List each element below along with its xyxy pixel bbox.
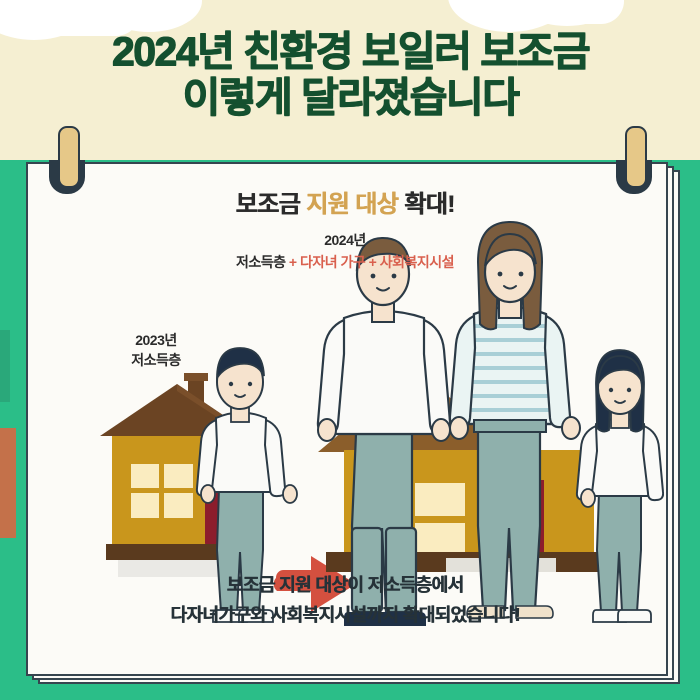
accent-stripe-green: [0, 330, 10, 402]
infographic-card: 2024년 친환경 보일러 보조금 이렇게 달라졌습니다: [0, 0, 700, 700]
subtitle: 보조금 지원 대상 확대!: [26, 184, 664, 219]
caption-line-2: 다자녀가구와 사회복지시설까지 확대되었습니다!: [26, 600, 664, 630]
subtitle-suffix: 확대!: [404, 191, 454, 218]
summary-caption: 보조금 지원 대상이 저소득층에서 다자녀가구와 사회복지시설까지 확대되었습니…: [26, 570, 664, 630]
caption-line-1: 보조금 지원 대상이 저소득층에서: [26, 570, 664, 600]
after-target-base: 저소득층: [236, 254, 286, 270]
subtitle-prefix: 보조금: [236, 191, 300, 218]
clothespin-peg-icon: [625, 126, 647, 188]
after-target-plus-2: + 사회복지시설: [369, 254, 454, 270]
before-label-group: 2023년 저소득층: [26, 330, 286, 370]
title-line-2: 이렇게 달라졌습니다: [0, 74, 700, 120]
subtitle-highlight: 지원 대상: [306, 191, 398, 218]
after-target-plus-1: + 다자녀 가구: [289, 254, 365, 270]
card-content: 보조금 지원 대상 확대! 2024년 저소득층 + 다자녀 가구 + 사회복지…: [26, 162, 664, 672]
after-year-label: 2024년: [145, 230, 545, 250]
after-target-label: 저소득층 + 다자녀 가구 + 사회복지시설: [95, 252, 595, 272]
accent-stripe-orange: [0, 428, 16, 538]
title-line-1: 2024년 친환경 보일러 보조금: [0, 28, 700, 74]
before-year-label: 2023년: [26, 330, 286, 350]
before-target-label: 저소득층: [26, 350, 286, 370]
clothespin-peg-icon: [58, 126, 80, 188]
page-title: 2024년 친환경 보일러 보조금 이렇게 달라졌습니다: [0, 28, 700, 120]
